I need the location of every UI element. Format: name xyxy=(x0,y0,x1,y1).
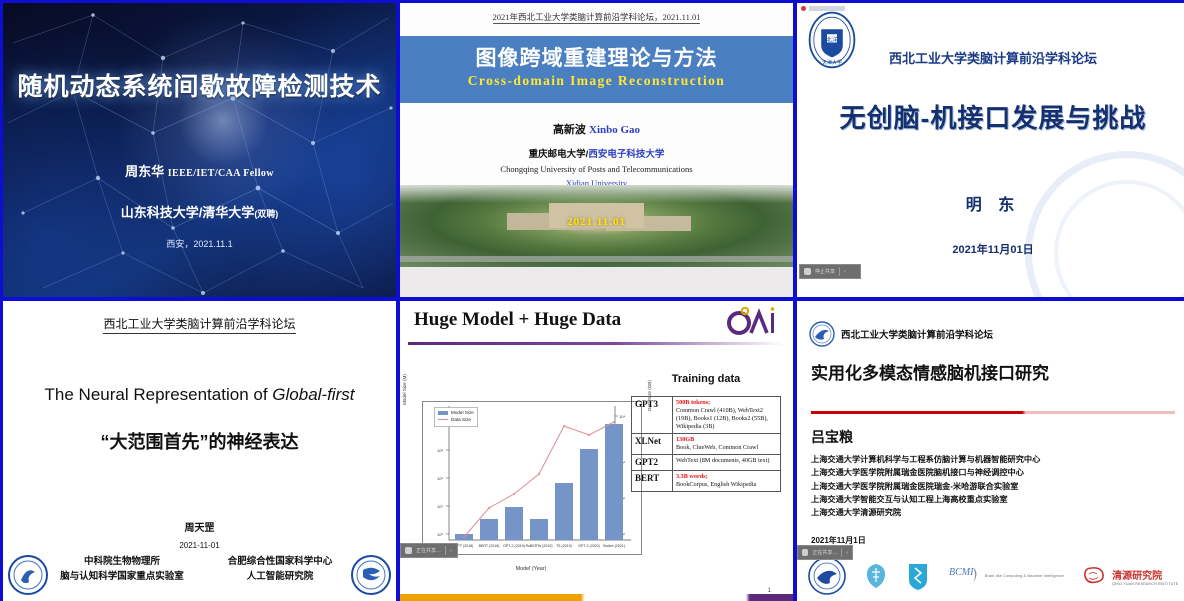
speaker-fellowship: IEEE/IET/CAA Fellow xyxy=(168,168,274,179)
toolbar-divider xyxy=(839,267,840,276)
slide-title-cn: “大范围首先”的神经表达 xyxy=(3,428,396,454)
slide-thumbnail-global-first[interactable]: 西北工业大学类脑计算前沿学科论坛 The Neural Representati… xyxy=(3,301,396,601)
title-divider xyxy=(811,411,1175,414)
svg-text:Switch (2021): Switch (2021) xyxy=(603,544,625,548)
affiliation-left-line2: 脑与认知科学国家重点实验室 xyxy=(47,569,197,584)
slide-header: 西北工业大学类脑计算前沿学科论坛 xyxy=(841,327,993,341)
slide-speaker: 周东华 IEEE/IET/CAA Fellow xyxy=(3,161,396,180)
svg-text:10⁰: 10⁰ xyxy=(437,532,443,537)
slide-affiliation-cn: 重庆邮电大学/西安电子科技大学 xyxy=(400,146,793,160)
slide-title-em: Global-first xyxy=(272,385,354,404)
table-cell-detail: 130GB Book, ClueWeb, Common Crawl xyxy=(673,433,781,454)
brain-lab-logo xyxy=(863,561,889,591)
slide-date: 西安，2021.11.1 xyxy=(3,237,396,250)
speaker-name-en: Xinbo Gao xyxy=(589,124,640,136)
chevron-left-icon[interactable]: ‹ xyxy=(450,548,452,554)
svg-text:10¹: 10¹ xyxy=(437,504,443,509)
table-cell-highlight: 500B tokens; xyxy=(676,399,710,406)
slide-title-cn: 图像跨域重建理论与方法 xyxy=(400,42,793,72)
qingyuan-caption: QING YUAN RESEARCH INSTITUTE xyxy=(1112,582,1178,586)
legend-swatch-line xyxy=(438,419,448,420)
university-watermark xyxy=(1025,151,1184,297)
table-row: GPT3 500B tokens; Common Crawl (410B), W… xyxy=(632,397,781,434)
svg-text:北洋: 北洋 xyxy=(826,36,838,44)
chart-x-axis-label: Model (Year) xyxy=(422,566,640,572)
slide-title-en: The Neural Representation of Global-firs… xyxy=(3,385,396,405)
slide-affiliation: 山东科技大学/清华大学(双聘) xyxy=(3,202,396,221)
affiliation-line: 上海交通大学医学院附属瑞金医院瑞金-米哈游联合实验室 xyxy=(811,480,1040,493)
slide-footer xyxy=(400,267,793,297)
affiliation-line: 上海交通大学清源研究院 xyxy=(811,506,1040,519)
slide-speaker: 明 东 xyxy=(797,191,1184,215)
affiliation-right: 合肥综合性国家科学中心 人工智能研究院 xyxy=(210,554,350,584)
slide-thumbnail-huge-model[interactable]: Huge Model + Huge Data Model Size (M) Da… xyxy=(400,301,793,601)
affiliation-cn-second: 西安电子科技大学 xyxy=(588,149,664,160)
slide-header: 2021年西北工业大学类脑计算前沿学科论坛，2021.11.01 xyxy=(400,11,793,23)
table-cell-detail: WebText (8M documents, 40GB text) xyxy=(673,454,781,471)
campus-road xyxy=(400,256,793,262)
table-cell-model: GPT3 xyxy=(632,397,673,434)
title-rule xyxy=(408,342,785,345)
screen-share-toolbar[interactable]: 停止共享 ‹ xyxy=(799,264,861,279)
table-cell-model: GPT2 xyxy=(632,454,673,471)
affiliation-note: (双聘) xyxy=(254,209,278,219)
table-row: XLNet 130GB Book, ClueWeb, Common Crawl xyxy=(632,433,781,454)
share-icon[interactable] xyxy=(802,549,808,556)
legend-item-model-size: Model Size xyxy=(438,410,474,417)
sjtu-logo xyxy=(807,556,847,596)
legend-swatch-bar xyxy=(438,411,448,415)
toolbar-divider xyxy=(841,548,842,557)
record-dot-icon xyxy=(801,6,806,11)
table-cell-model: BERT xyxy=(632,471,673,492)
slide-date: 2021年11月01日 xyxy=(797,241,1184,257)
slide-thumbnail-fault-detection[interactable]: 随机动态系统间歇故障检测技术 周东华 IEEE/IET/CAA Fellow 山… xyxy=(3,3,396,297)
affiliation-right-line2: 人工智能研究院 xyxy=(210,569,350,584)
affiliation-line: 上海交通大学智能交互与认知工程上海高校重点实验室 xyxy=(811,493,1040,506)
slide-title: 无创脑-机接口发展与挑战 xyxy=(797,98,1184,135)
table-row: GPT2 WebText (8M documents, 40GB text) xyxy=(632,454,781,471)
slide-header: 西北工业大学类脑计算前沿学科论坛 xyxy=(3,315,396,332)
title-band: 图像跨域重建理论与方法 Cross-domain Image Reconstru… xyxy=(400,36,793,103)
slide-subtitle: 西北工业大学类脑计算前沿学科论坛 xyxy=(797,48,1184,67)
table-row: BERT 3.3B words; BookCorpus, English Wik… xyxy=(632,471,781,492)
table-cell-detail: 3.3B words; BookCorpus, English Wikipedi… xyxy=(673,471,781,492)
slide-speaker: 吕宝粮 xyxy=(811,427,853,447)
share-icon[interactable] xyxy=(405,547,412,554)
slide-affiliations: 上海交通大学计算机科学与工程系仿脑计算与机器智能研究中心 上海交通大学医学院附属… xyxy=(811,453,1040,519)
oai-logo xyxy=(723,305,779,341)
training-data-caption: Training data xyxy=(631,373,781,385)
hefei-ai-institute-logo xyxy=(350,554,392,596)
slide-affiliation-en-1: Chongqing University of Posts and Teleco… xyxy=(400,164,793,174)
slide-title: 随机动态系统间歇故障检测技术 xyxy=(3,67,396,103)
chart-bars xyxy=(455,424,623,540)
chart-legend: Model Size Data Size xyxy=(434,407,478,427)
svg-text:T5 (2019): T5 (2019) xyxy=(556,544,572,548)
qingyuan-label: 清源研究院 xyxy=(1112,567,1178,582)
table-cell-highlight: 130GB xyxy=(676,436,694,443)
slide-speaker: 高新波 Xinbo Gao xyxy=(400,121,793,137)
training-data-table: GPT3 500B tokens; Common Crawl (410B), W… xyxy=(631,396,781,492)
svg-text:BCMI: BCMI xyxy=(949,567,974,578)
screen-share-toolbar[interactable]: 正在共享… ‹ xyxy=(400,543,458,558)
svg-text:GPT-2 (2019): GPT-2 (2019) xyxy=(503,544,525,548)
share-toolbar-label: 正在共享… xyxy=(416,547,441,554)
svg-text:10³: 10³ xyxy=(437,448,443,453)
screen-share-toolbar[interactable]: 正在共享… ‹ xyxy=(797,545,853,560)
ruijin-logo xyxy=(905,561,931,591)
affiliation-right-line1: 合肥综合性国家科学中心 xyxy=(210,554,350,569)
bcmi-logo: BCMI Brain-like Computing & Machine Inte… xyxy=(947,561,1064,591)
slide-speaker: 周天罡 xyxy=(3,519,396,534)
footer-logo-row: BCMI Brain-like Computing & Machine Inte… xyxy=(807,554,1179,598)
affiliation-left: 中科院生物物理所 脑与认知科学国家重点实验室 xyxy=(47,554,197,584)
affiliation-line: 上海交通大学计算机科学与工程系仿脑计算与机器智能研究中心 xyxy=(811,453,1040,466)
network-decoration xyxy=(3,3,396,297)
slide-date: 2021-11-01 xyxy=(3,541,396,550)
slide-title: Huge Model + Huge Data xyxy=(414,309,621,331)
chevron-left-icon[interactable]: ‹ xyxy=(844,269,846,275)
affiliation-left-line1: 中科院生物物理所 xyxy=(47,554,197,569)
share-icon[interactable] xyxy=(804,268,811,275)
table-cell-detail: 500B tokens; Common Crawl (410B), WebTex… xyxy=(673,397,781,434)
institute-of-biophysics-logo xyxy=(7,554,49,596)
slide-title-en: Cross-domain Image Reconstruction xyxy=(400,73,793,89)
svg-text:10⁴: 10⁴ xyxy=(619,414,625,419)
nwpu-logo xyxy=(809,321,835,347)
slide-montage: 随机动态系统间歇故障检测技术 周东华 IEEE/IET/CAA Fellow 山… xyxy=(0,0,1184,601)
svg-text:10²: 10² xyxy=(437,476,443,481)
table-cell-highlight: 3.3B words; xyxy=(676,473,708,480)
bcmi-caption: Brain-like Computing & Machine Intellige… xyxy=(985,574,1064,578)
toolbar-divider xyxy=(445,546,446,555)
svg-text:BERT (2018): BERT (2018) xyxy=(479,544,500,548)
svg-text:RoBERTa (2019): RoBERTa (2019) xyxy=(525,544,552,548)
legend-item-data-size: Data Size xyxy=(438,417,474,424)
chart-y-axis-label: Model Size (M) xyxy=(402,374,407,405)
svg-text:GPT-3 (2020): GPT-3 (2020) xyxy=(578,544,600,548)
qingyuan-logo: 清源研究院 QING YUAN RESEARCH INSTITUTE xyxy=(1080,564,1178,588)
affiliation-line: 上海交通大学医学院附属瑞金医院脑机接口与神经调控中心 xyxy=(811,466,1040,479)
slide-grid: 随机动态系统间歇故障检测技术 周东华 IEEE/IET/CAA Fellow 山… xyxy=(0,0,1184,601)
table-cell-model: XLNet xyxy=(632,433,673,454)
slide-thumbnail-cross-domain[interactable]: 2021年西北工业大学类脑计算前沿学科论坛，2021.11.01 图像跨域重建理… xyxy=(400,3,793,297)
slide-thumbnail-bci-challenges[interactable]: 北洋 天津大学 西北工业大学类脑计算前沿学科论坛 无创脑-机接口发展与挑战 明 … xyxy=(797,3,1184,297)
slide-thumbnail-affective-bci[interactable]: 西北工业大学类脑计算前沿学科论坛 实用化多模态情感脑机接口研究 吕宝粮 上海交通… xyxy=(797,301,1184,601)
share-toolbar-label: 停止共享 xyxy=(815,268,835,275)
slide-title: 实用化多模态情感脑机接口研究 xyxy=(811,359,1049,384)
share-toolbar-label: 正在共享… xyxy=(812,549,837,556)
slide-footer-bar xyxy=(400,594,793,601)
photo-date-overlay: 2021.11.01 xyxy=(400,216,793,228)
chevron-left-icon[interactable]: ‹ xyxy=(846,550,848,556)
